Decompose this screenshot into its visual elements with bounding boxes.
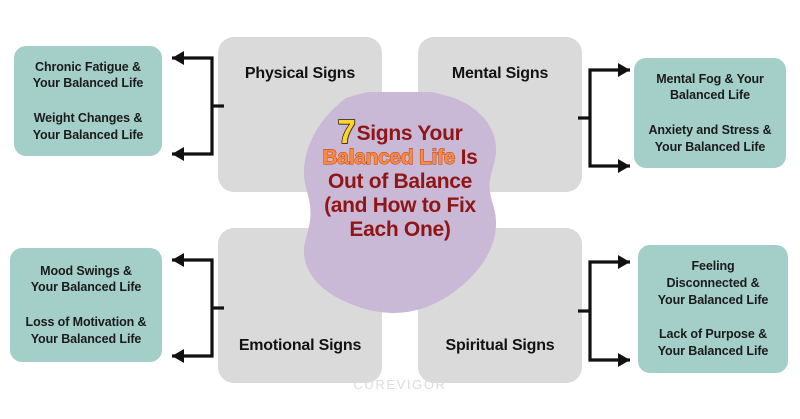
quadrant-label-physical: Physical Signs [218, 65, 382, 83]
connector-bracket-top-left [160, 46, 224, 166]
side-item: Anxiety and Stress & Your Balanced Life [648, 122, 771, 155]
side-item-line1: Chronic Fatigue & [35, 60, 141, 74]
side-item-line3: Your Balanced Life [658, 293, 769, 307]
quadrant-label-spiritual: Spiritual Signs [418, 337, 582, 355]
side-item: Mental Fog & Your Balanced Life [656, 71, 764, 104]
side-item-line1: Mood Swings & [40, 264, 132, 278]
connector-bracket-bottom-left [160, 248, 224, 368]
connector-bracket-bottom-right [578, 250, 642, 372]
infographic-canvas: Physical Signs Mental Signs Emotional Si… [0, 0, 800, 419]
side-item-line2: Your Balanced Life [33, 76, 144, 90]
title-line-1: 7Signs Your [278, 118, 522, 146]
side-item: Lack of Purpose & Your Balanced Life [658, 326, 769, 359]
side-item-line2: Your Balanced Life [658, 344, 769, 358]
side-item-line2: Your Balanced Life [655, 140, 766, 154]
side-item-line2: Your Balanced Life [31, 280, 142, 294]
side-item-line2: Disconnected & [666, 276, 759, 290]
number-seven-badge: 7 [338, 118, 356, 146]
title-line-2-text: Is [455, 146, 477, 169]
title-highlight-balanced-life: Balanced Life [322, 146, 455, 169]
title-line-2: Balanced Life Is [278, 146, 522, 170]
side-item: Feeling Disconnected & Your Balanced Lif… [658, 258, 769, 308]
side-item: Loss of Motivation & Your Balanced Life [26, 314, 147, 347]
side-item: Weight Changes & Your Balanced Life [33, 110, 144, 143]
side-item-line1: Weight Changes & [34, 111, 143, 125]
title-line-4: (and How to Fix [278, 194, 522, 218]
side-item: Chronic Fatigue & Your Balanced Life [33, 59, 144, 92]
side-box-physical-signs[interactable]: Chronic Fatigue & Your Balanced Life Wei… [14, 46, 162, 156]
title-line-1-text: Signs Your [357, 122, 463, 145]
side-item-line2: Your Balanced Life [33, 128, 144, 142]
connector-bracket-top-right [578, 58, 642, 178]
side-item-line1: Feeling [691, 259, 734, 273]
side-item: Mood Swings & Your Balanced Life [31, 263, 142, 296]
side-box-mental-signs[interactable]: Mental Fog & Your Balanced Life Anxiety … [634, 58, 786, 168]
side-item-line1: Loss of Motivation & [26, 315, 147, 329]
watermark-curevigor: CUREVIGOR [0, 377, 800, 392]
quadrant-label-emotional: Emotional Signs [218, 337, 382, 355]
title-line-5: Each One) [278, 218, 522, 242]
quadrant-label-mental: Mental Signs [418, 65, 582, 83]
side-box-emotional-signs[interactable]: Mood Swings & Your Balanced Life Loss of… [10, 248, 162, 362]
side-item-line1: Lack of Purpose & [659, 327, 767, 341]
side-item-line1: Anxiety and Stress & [648, 123, 771, 137]
side-box-spiritual-signs[interactable]: Feeling Disconnected & Your Balanced Lif… [638, 245, 788, 373]
center-title-block: 7Signs Your Balanced Life Is Out of Bala… [278, 118, 522, 242]
side-item-line1: Mental Fog & Your [656, 72, 764, 86]
side-item-line2: Balanced Life [670, 88, 750, 102]
side-item-line2: Your Balanced Life [31, 332, 142, 346]
title-line-3: Out of Balance [278, 170, 522, 194]
